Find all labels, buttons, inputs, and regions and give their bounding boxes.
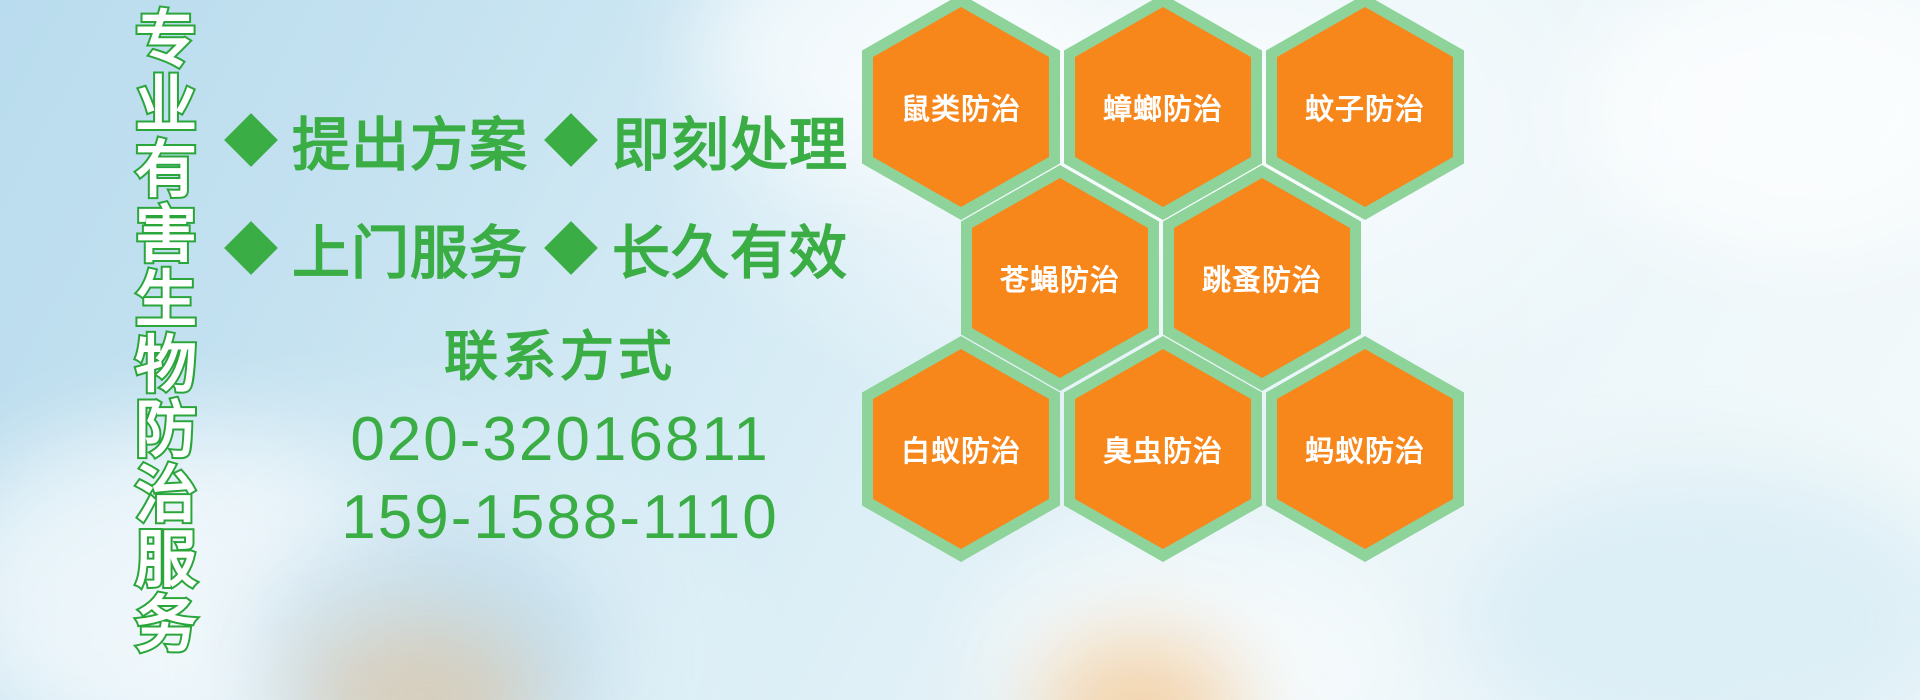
background-blur-blob <box>1040 640 1240 700</box>
vertical-headline-char: 务 <box>135 593 197 658</box>
service-hexagon-label: 臭虫防治 <box>1103 428 1223 470</box>
feature-item: 即刻处理 <box>552 98 848 182</box>
feature-label: 提出方案 <box>292 98 528 182</box>
feature-list: 提出方案 即刻处理 上门服务 长久有效 <box>232 86 872 302</box>
service-hexagon-label: 蟑螂防治 <box>1103 86 1223 128</box>
contact-title: 联系方式 <box>300 312 820 391</box>
feature-label: 上门服务 <box>292 206 528 290</box>
service-hexagon-label: 蚂蚁防治 <box>1305 428 1425 470</box>
service-hexagon-label: 鼠类防治 <box>901 86 1021 128</box>
vertical-headline-char: 害 <box>135 203 197 268</box>
feature-row: 上门服务 长久有效 <box>232 194 872 302</box>
background-blur-blob <box>1460 470 1920 700</box>
diamond-icon <box>224 113 278 167</box>
vertical-headline: 专 业 有 害 生 物 防 治 服 务 <box>112 8 220 668</box>
vertical-headline-char: 物 <box>135 333 197 398</box>
vertical-headline-char: 业 <box>135 73 197 138</box>
vertical-headline-char: 服 <box>135 528 197 593</box>
service-hexagon-bedbug[interactable]: 臭虫防治 <box>1064 336 1262 562</box>
service-hexagon-ant[interactable]: 蚂蚁防治 <box>1266 336 1464 562</box>
vertical-headline-char: 治 <box>135 463 197 528</box>
service-hexagon-label: 白蚁防治 <box>901 428 1021 470</box>
diamond-icon <box>224 221 278 275</box>
service-hexagon-label: 跳蚤防治 <box>1202 257 1322 299</box>
feature-label: 即刻处理 <box>612 98 848 182</box>
diamond-icon <box>544 221 598 275</box>
contact-block: 联系方式 020-32016811 159-1588-1110 <box>300 312 820 557</box>
service-hexagon-label: 蚊子防治 <box>1305 86 1425 128</box>
feature-item: 长久有效 <box>552 206 848 290</box>
feature-label: 长久有效 <box>612 206 848 290</box>
background-blur-blob <box>1580 0 1920 260</box>
diamond-icon <box>544 113 598 167</box>
background-blur-blob <box>300 620 540 700</box>
vertical-headline-char: 专 <box>135 8 197 73</box>
feature-item: 提出方案 <box>232 98 552 182</box>
vertical-headline-char: 有 <box>135 138 197 203</box>
background-blur-blob <box>980 540 1400 700</box>
service-honeycomb: 鼠类防治 蟑螂防治 蚊子防治 苍蝇防治 跳蚤防治 <box>862 0 1462 554</box>
contact-phone-landline[interactable]: 020-32016811 <box>300 401 820 479</box>
service-hexagon-label: 苍蝇防治 <box>1000 257 1120 299</box>
feature-item: 上门服务 <box>232 206 552 290</box>
contact-phone-mobile[interactable]: 159-1588-1110 <box>300 479 820 557</box>
vertical-headline-char: 防 <box>135 398 197 463</box>
pest-control-banner: 专 业 有 害 生 物 防 治 服 务 提出方案 即刻处理 上门服务 <box>0 0 1920 700</box>
honeycomb-row: 白蚁防治 臭虫防治 蚂蚁防治 <box>862 336 1468 562</box>
service-hexagon-termite[interactable]: 白蚁防治 <box>862 336 1060 562</box>
vertical-headline-char: 生 <box>135 268 197 333</box>
feature-row: 提出方案 即刻处理 <box>232 86 872 194</box>
